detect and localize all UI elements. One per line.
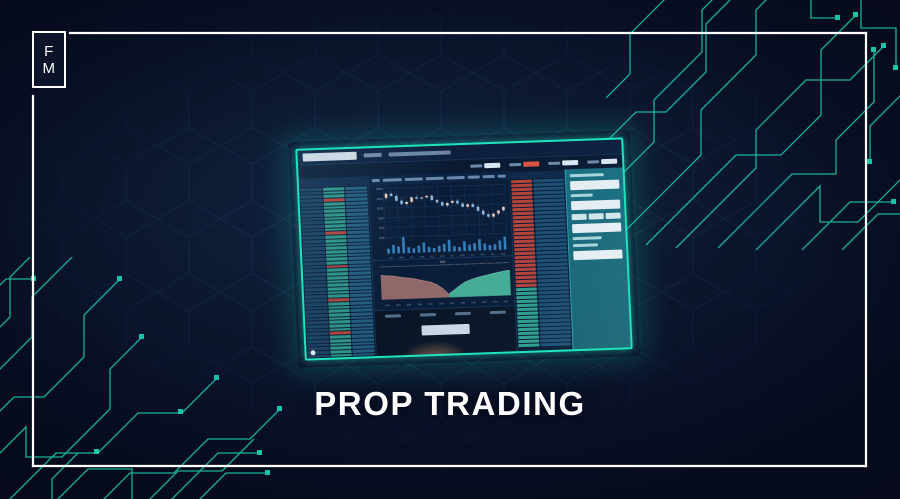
page-title: PROP TRADING [0,385,900,423]
depth-row [353,353,375,356]
svg-text:10:00: 10:00 [396,305,400,307]
tab-alerts[interactable] [489,311,505,315]
svg-text:09:30: 09:30 [385,306,389,308]
trading-dashboard-screenshot: 105.60103.40101.2099.0097.8096.4009:109:… [295,137,632,360]
tab-positions[interactable] [384,314,400,318]
screen-content: 105.60103.40101.2099.0097.8096.4009:109:… [297,139,630,358]
more-button[interactable] [606,213,621,220]
orders-input[interactable] [421,324,469,336]
svg-text:105.60: 105.60 [376,189,383,191]
side-buttons[interactable] [572,213,621,221]
svg-text:14:30: 14:30 [493,302,497,304]
depth-row [330,354,352,357]
orders-panel [375,305,517,356]
quantity-label [571,193,593,197]
svg-text:96.40: 96.40 [379,238,385,240]
limit-label [573,243,599,247]
svg-text:10:30: 10:30 [407,305,411,307]
svg-text:99.00: 99.00 [379,218,385,220]
ticker-item [587,159,617,165]
tab-history[interactable] [454,312,470,316]
promo-card: F M [0,0,900,499]
candlestick-chart: 105.60103.40101.2099.0097.8096.4009:109:… [369,180,512,260]
menu-label [364,153,382,158]
svg-text:13:30: 13:30 [471,303,475,305]
fm-logo-letter-f: F [44,44,54,59]
order-book-row [518,342,571,347]
search-input[interactable] [303,152,357,162]
svg-text:14:00: 14:00 [482,302,486,304]
fm-logo[interactable]: F M [32,31,66,88]
stop-label [573,236,603,240]
sell-button[interactable] [589,213,604,220]
ticker-item [548,160,578,166]
svg-text:12:00: 12:00 [439,304,443,306]
svg-text:12:30: 12:30 [450,303,454,305]
svg-text:103.40: 103.40 [377,199,384,201]
order-entry-title [570,173,604,177]
order-book-panel [509,169,573,351]
platform-body: 105.60103.40101.2099.0097.8096.4009:109:… [299,167,631,358]
market-depth-columns [299,185,376,358]
stop-field[interactable] [573,249,622,260]
quantity-field[interactable] [571,200,620,211]
fm-logo-letter-m: M [43,61,56,76]
area-chart: 09:3010:0010:3011:0011:3012:0012:3013:00… [372,256,514,310]
svg-text:100.5: 100.5 [440,262,446,264]
workspace-title [389,150,451,156]
chart-panel: 105.60103.40101.2099.0097.8096.4009:109:… [369,171,517,356]
svg-text:11:30: 11:30 [428,304,432,306]
svg-text:15:00: 15:00 [504,301,508,303]
tab-orders[interactable] [419,313,435,317]
ticker-item [470,163,500,169]
order-entry-panel [564,167,630,349]
market-depth-panel [299,176,377,358]
svg-text:101.20: 101.20 [377,208,384,210]
price-field[interactable] [572,223,621,234]
svg-text:97.80: 97.80 [379,228,385,230]
buy-button[interactable] [572,214,587,221]
svg-text:13:00: 13:00 [461,303,465,305]
symbol-field[interactable] [570,180,619,191]
ticker-item [509,161,539,167]
svg-text:11:00: 11:00 [418,304,422,306]
